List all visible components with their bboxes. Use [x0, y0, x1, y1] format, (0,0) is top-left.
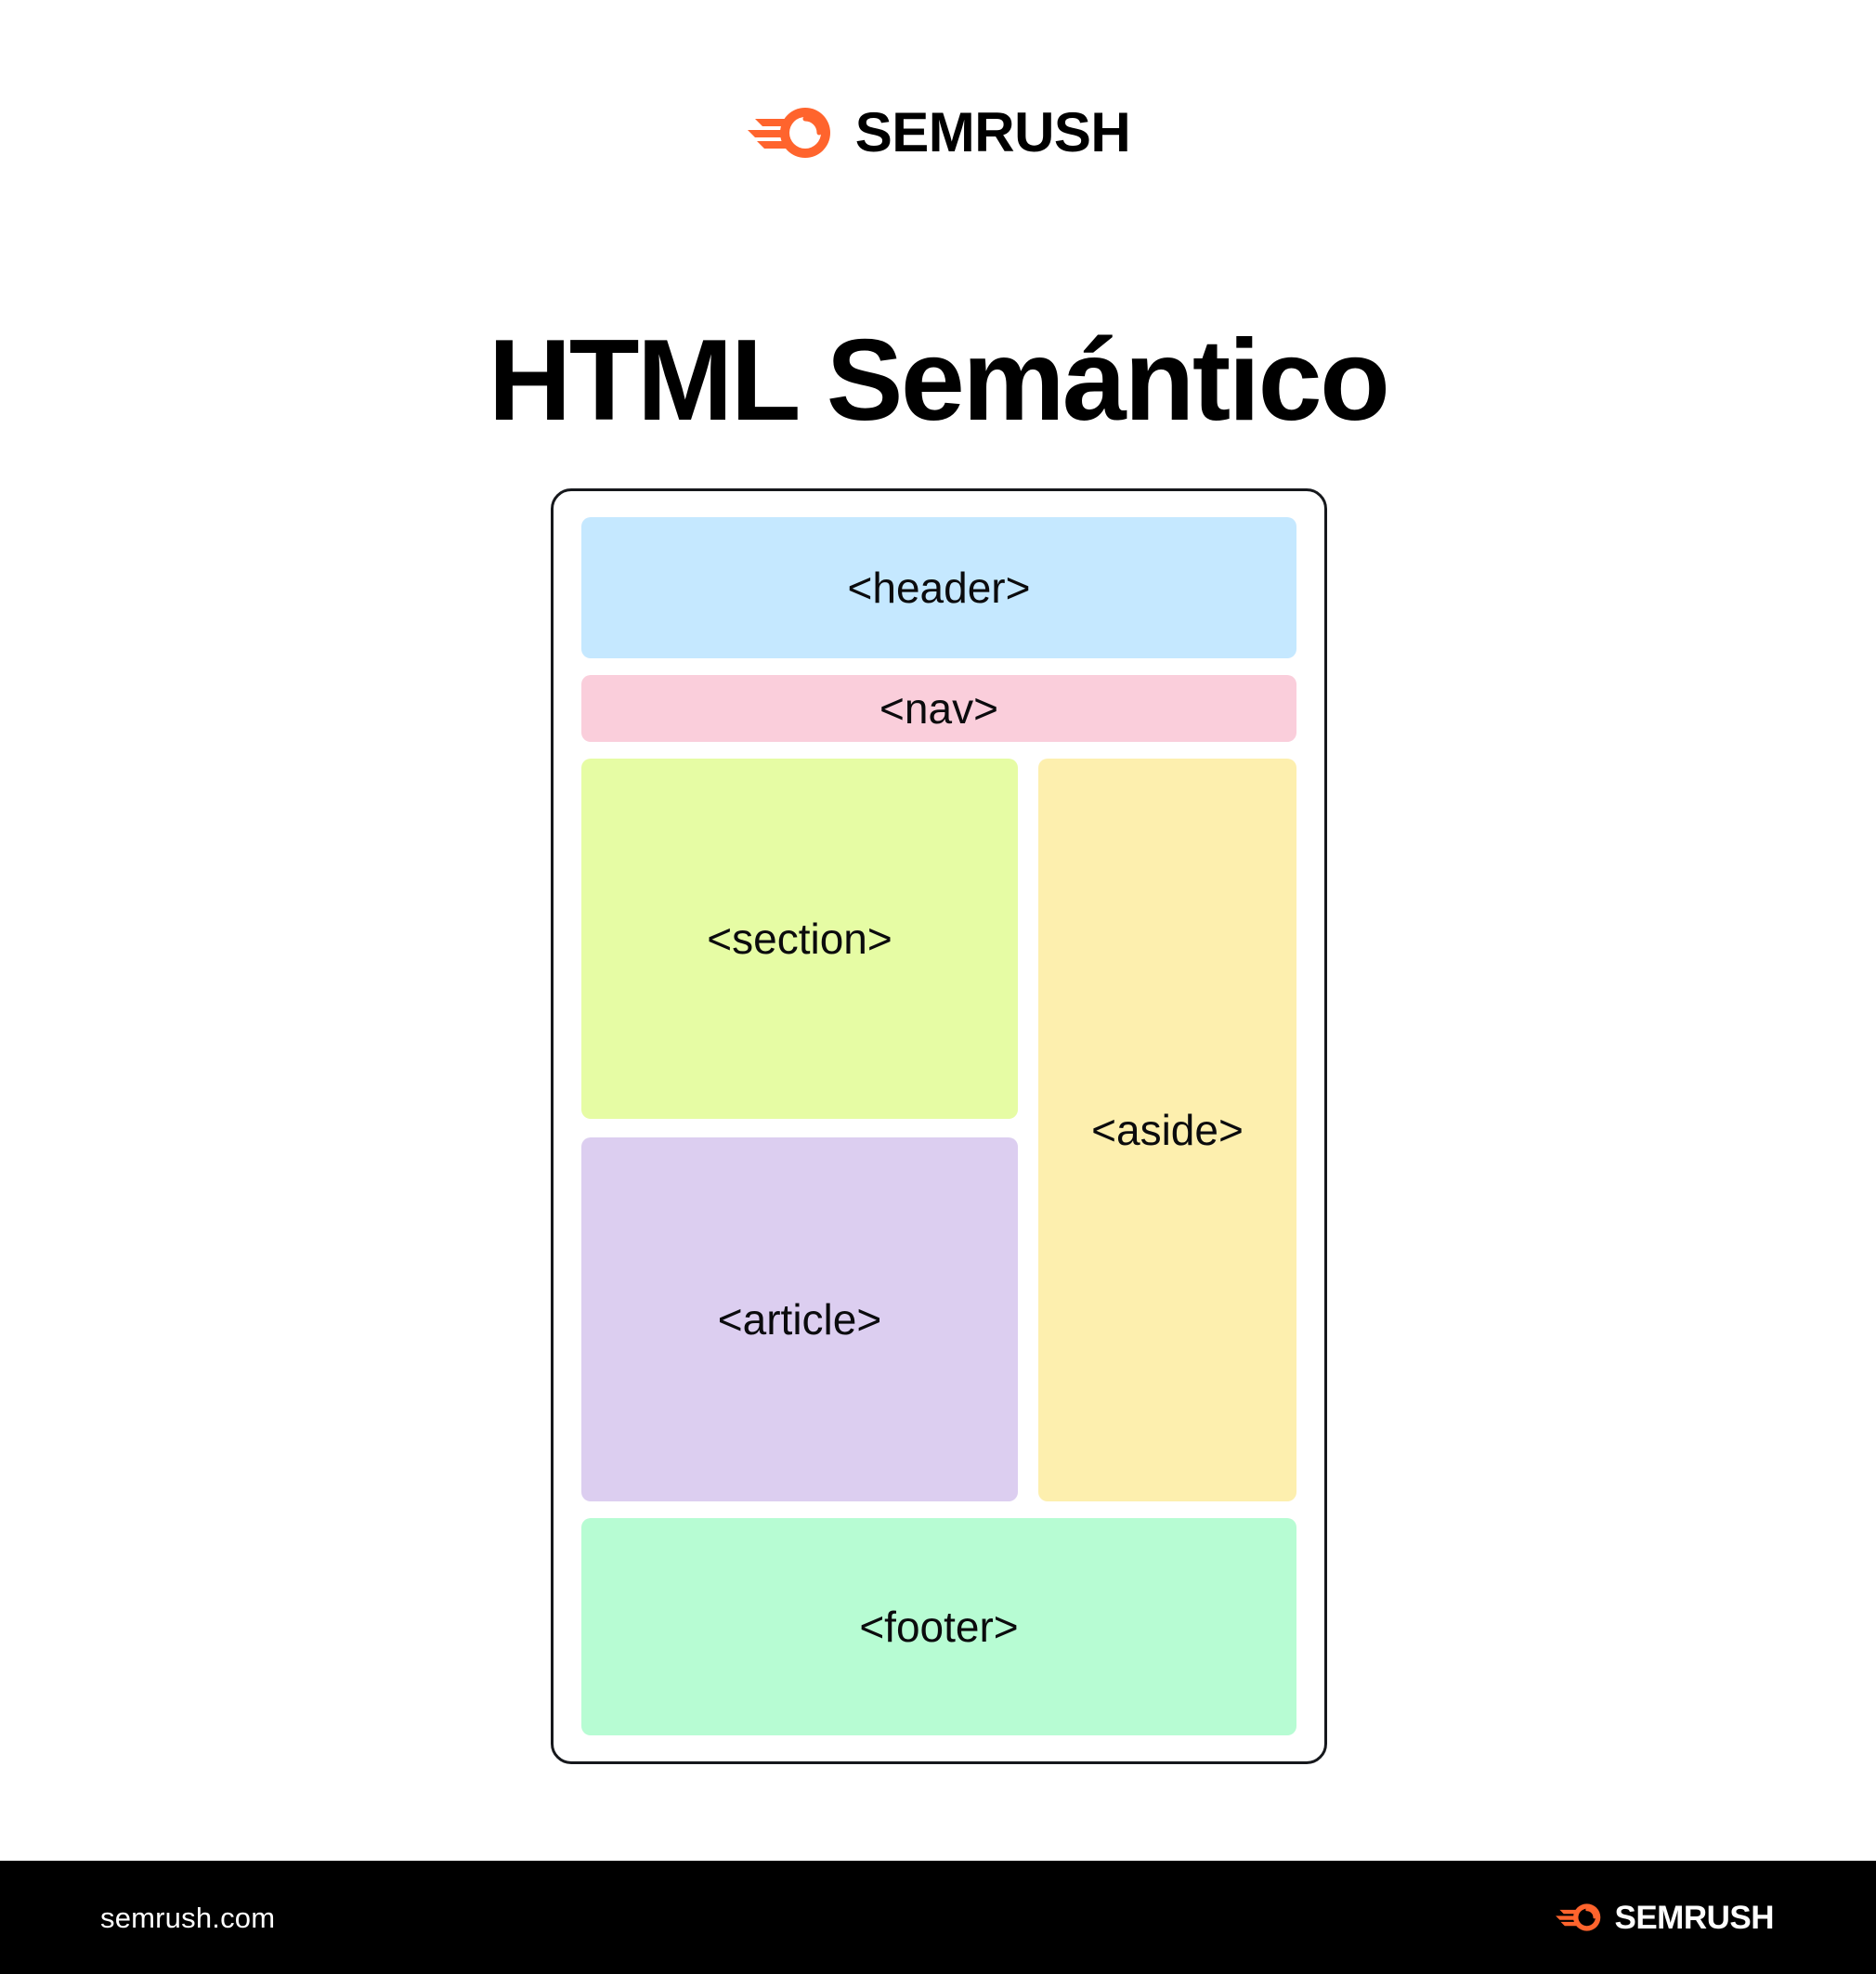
diagram-middle-left-column: <section> <article> — [581, 759, 1018, 1501]
diagram-block-aside-label: <aside> — [1091, 1109, 1244, 1151]
diagram-block-nav-label: <nav> — [879, 687, 998, 730]
semantic-layout-diagram: <header> <nav> <section> <article> <asid… — [551, 488, 1327, 1764]
page-title: HTML Semántico — [0, 320, 1876, 441]
brand-wordmark: SEMRUSH — [855, 105, 1131, 161]
diagram-block-aside: <aside> — [1038, 759, 1296, 1501]
diagram-block-header-label: <header> — [848, 566, 1031, 609]
diagram-middle-row: <section> <article> <aside> — [581, 759, 1296, 1501]
diagram-block-footer: <footer> — [581, 1518, 1296, 1735]
diagram-block-header: <header> — [581, 517, 1296, 658]
brand-wordmark: SEMRUSH — [1614, 1902, 1774, 1934]
diagram-block-article: <article> — [581, 1137, 1018, 1501]
diagram-block-nav: <nav> — [581, 675, 1296, 742]
semrush-comet-logo-icon — [1555, 1903, 1603, 1932]
brand-lockup-bottom: SEMRUSH — [1555, 1902, 1774, 1934]
site-url-label: semrush.com — [100, 1903, 275, 1932]
diagram-block-article-label: <article> — [718, 1298, 881, 1341]
diagram-block-section-label: <section> — [707, 917, 892, 960]
semrush-comet-logo-icon — [746, 106, 835, 160]
diagram-block-section: <section> — [581, 759, 1018, 1119]
diagram-block-footer-label: <footer> — [859, 1605, 1018, 1648]
brand-lockup-top: SEMRUSH — [0, 100, 1876, 165]
bottom-bar: semrush.com SEMRUSH — [0, 1861, 1876, 1974]
